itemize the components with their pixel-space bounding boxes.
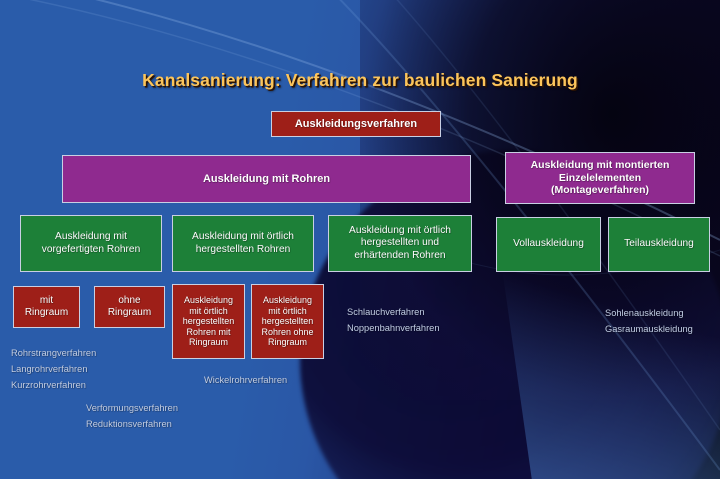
node-label: Teilauskleidung — [620, 238, 698, 250]
node-label: Auskleidung mit örtlich hergestellten Ro… — [179, 295, 239, 348]
slide-canvas: Kanalsanierung: Verfahren zur baulichen … — [0, 0, 720, 479]
node-label: Auskleidung mit örtlich hergestellten un… — [345, 225, 455, 261]
node-label: Auskleidungsverfahren — [291, 118, 421, 131]
node-label: Auskleidung mit örtlich hergestellten Ro… — [257, 295, 317, 348]
node-label: Auskleidung mit vorgefertigten Rohren — [38, 231, 145, 255]
node-label: ohne Ringraum — [104, 295, 155, 319]
label-rohrstrangverfahren: Rohrstrangverfahren — [11, 348, 96, 358]
node-erhaertende-rohren[interactable]: Auskleidung mit örtlich hergestellten un… — [328, 215, 472, 272]
node-label: Auskleidung mit Rohren — [199, 173, 334, 186]
node-label: Auskleidung mit montierten Einzelelement… — [527, 159, 674, 196]
page-title: Kanalsanierung: Verfahren zur baulichen … — [0, 70, 720, 91]
label-verformungsverfahren: Verformungsverfahren — [86, 403, 178, 413]
node-vollauskleidung[interactable]: Vollauskleidung — [496, 217, 601, 272]
label-gasraumauskleidung: Gasraumauskleidung — [605, 324, 693, 334]
node-oertlich-hergestellte-rohren[interactable]: Auskleidung mit örtlich hergestellten Ro… — [172, 215, 314, 272]
node-auskleidung-mit-rohren[interactable]: Auskleidung mit Rohren — [62, 155, 471, 203]
node-hergestellte-rohren-mit-ringraum[interactable]: Auskleidung mit örtlich hergestellten Ro… — [172, 284, 245, 359]
label-noppenbahnverfahren: Noppenbahnverfahren — [347, 323, 440, 333]
node-label: mit Ringraum — [21, 295, 72, 319]
label-langrohrverfahren: Langrohrverfahren — [11, 364, 88, 374]
node-auskleidungsverfahren[interactable]: Auskleidungsverfahren — [271, 111, 441, 137]
label-schlauchverfahren: Schlauchverfahren — [347, 307, 425, 317]
node-mit-ringraum[interactable]: mit Ringraum — [13, 286, 80, 328]
node-hergestellte-rohren-ohne-ringraum[interactable]: Auskleidung mit örtlich hergestellten Ro… — [251, 284, 324, 359]
label-reduktionsverfahren: Reduktionsverfahren — [86, 419, 172, 429]
node-label: Auskleidung mit örtlich hergestellten Ro… — [188, 231, 298, 255]
label-sohlenauskleidung: Sohlenauskleidung — [605, 308, 684, 318]
node-teilauskleidung[interactable]: Teilauskleidung — [608, 217, 710, 272]
node-ohne-ringraum[interactable]: ohne Ringraum — [94, 286, 165, 328]
label-kurzrohrverfahren: Kurzrohrverfahren — [11, 380, 86, 390]
node-auskleidung-montierte-einzelelemente[interactable]: Auskleidung mit montierten Einzelelement… — [505, 152, 695, 204]
node-vorgefertigte-rohren[interactable]: Auskleidung mit vorgefertigten Rohren — [20, 215, 162, 272]
label-wickelrohrverfahren: Wickelrohrverfahren — [204, 375, 287, 385]
node-label: Vollauskleidung — [509, 238, 588, 250]
